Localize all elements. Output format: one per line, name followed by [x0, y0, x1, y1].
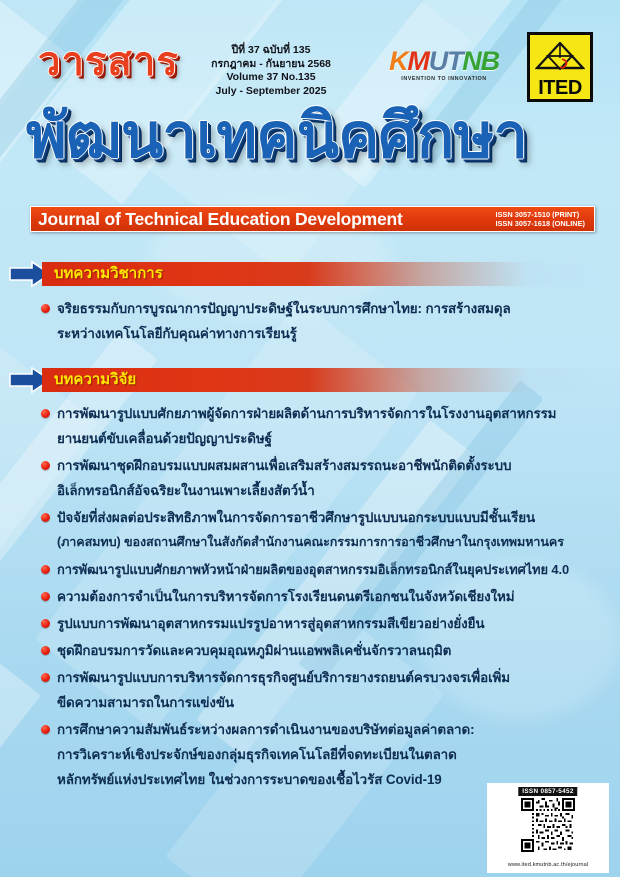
- bullet-icon: [41, 409, 50, 418]
- bullet-icon: [41, 565, 50, 574]
- list-item[interactable]: ปัจจัยที่ส่งผลต่อประสิทธิภาพในการจัดการอ…: [0, 505, 620, 555]
- list-item[interactable]: ความต้องการจำเป็นในการบริหารจัดการโรงเรี…: [0, 584, 620, 609]
- article-title-line: การศึกษาความสัมพันธ์ระหว่างผลการดำเนินงา…: [57, 717, 620, 742]
- article-list-research: การพัฒนารูปแบบศักยภาพผู้จัดการฝ่ายผลิตด้…: [0, 401, 620, 794]
- kmutnb-letters: KMUTNB: [369, 48, 519, 75]
- issue-line-en-period: July - September 2025: [186, 85, 356, 99]
- bullet-icon: [41, 725, 50, 734]
- page-title: พัฒนาเทคนิคศึกษา: [26, 104, 596, 169]
- article-title-line: ระหว่างเทคโนโลยีกับคุณค่าทางการเรียนรู้: [57, 321, 620, 346]
- article-title-line: อิเล็กทรอนิกส์อัจฉริยะในงานเพาะเลี้ยงสัต…: [57, 478, 620, 503]
- article-title-line: การพัฒนารูปแบบศักยภาพหัวหน้าฝ่ายผลิตของอ…: [57, 557, 620, 582]
- article-title-line: ปัจจัยที่ส่งผลต่อประสิทธิภาพในการจัดการอ…: [57, 505, 620, 530]
- list-item[interactable]: การศึกษาความสัมพันธ์ระหว่างผลการดำเนินงา…: [0, 717, 620, 792]
- ited-wordmark: ITED: [530, 78, 590, 98]
- issue-info: ปีที่ 37 ฉบับที่ 135 กรกฎาคม - กันยายน 2…: [186, 44, 356, 98]
- bullet-icon: [41, 619, 50, 628]
- thai-journal-word: วารสาร: [38, 42, 179, 82]
- list-item[interactable]: การพัฒนารูปแบบศักยภาพผู้จัดการฝ่ายผลิตด้…: [0, 401, 620, 451]
- qr-panel: ISSN 0857-5452: [487, 783, 609, 873]
- ited-logo: ITED: [527, 32, 593, 102]
- list-item[interactable]: การพัฒนาชุดฝึกอบรมแบบผสมผสานเพื่อเสริมสร…: [0, 453, 620, 503]
- kmutnb-letter-m: M: [407, 46, 428, 76]
- article-list-academic: จริยธรรมกับการบูรณาการปัญญาประดิษฐ์ในระบ…: [0, 296, 620, 348]
- qr-code-icon[interactable]: [521, 798, 575, 852]
- issn-print: ISSN 3057-1510 (PRINT): [495, 210, 585, 220]
- qr-issn-badge: ISSN 0857-5452: [518, 787, 577, 796]
- journal-cover: วารสาร ปีที่ 37 ฉบับที่ 135 กรกฎาคม - กั…: [0, 0, 620, 877]
- issn-online: ISSN 3057-1618 (ONLINE): [495, 219, 585, 229]
- article-title-line: ยานยนต์ขับเคลื่อนด้วยปัญญาประดิษฐ์: [57, 426, 620, 451]
- article-title-line: รูปแบบการพัฒนาอุตสาหกรรมแปรรูปอาหารสู่อุ…: [57, 611, 620, 636]
- kmutnb-letter-k: K: [389, 46, 407, 76]
- bullet-icon: [41, 673, 50, 682]
- english-title: Journal of Technical Education Developme…: [38, 209, 495, 230]
- article-title-line: (ภาคสมทบ) ของสถานศึกษาในสังกัดสำนักงานคณ…: [57, 530, 620, 555]
- article-title-line: การวิเคราะห์เชิงประจักษ์ของกลุ่มธุรกิจเท…: [57, 742, 620, 767]
- article-title-line: ความต้องการจำเป็นในการบริหารจัดการโรงเรี…: [57, 584, 620, 609]
- list-item[interactable]: รูปแบบการพัฒนาอุตสาหกรรมแปรรูปอาหารสู่อุ…: [0, 611, 620, 636]
- qr-url: www.ited.kmutnb.ac.th/ejournal: [487, 862, 609, 868]
- section-header-academic: บทความวิชาการ: [0, 262, 620, 286]
- english-title-bar: Journal of Technical Education Developme…: [30, 206, 595, 232]
- ited-crane-icon: [535, 42, 585, 72]
- list-item[interactable]: การพัฒนารูปแบบศักยภาพหัวหน้าฝ่ายผลิตของอ…: [0, 557, 620, 582]
- bullet-icon: [41, 513, 50, 522]
- issn-block: ISSN 3057-1510 (PRINT) ISSN 3057-1618 (O…: [495, 210, 587, 229]
- list-item[interactable]: จริยธรรมกับการบูรณาการปัญญาประดิษฐ์ในระบ…: [0, 296, 620, 346]
- list-item[interactable]: ชุดฝึกอบรมการวัดและควบคุมอุณหภูมิผ่านแอพ…: [0, 638, 620, 663]
- section-label-research: บทความวิจัย: [54, 370, 136, 390]
- section-label-academic: บทความวิชาการ: [54, 264, 163, 284]
- article-title-line: ขีดความสามารถในการแข่งขัน: [57, 690, 620, 715]
- issue-line-en-volume: Volume 37 No.135: [186, 71, 356, 85]
- bullet-icon: [41, 592, 50, 601]
- kmutnb-letter-ut: UT: [429, 46, 463, 76]
- issue-line-thai-volume: ปีที่ 37 ฉบับที่ 135: [186, 44, 356, 58]
- bullet-icon: [41, 461, 50, 470]
- article-title-line: การพัฒนารูปแบบศักยภาพผู้จัดการฝ่ายผลิตด้…: [57, 401, 620, 426]
- list-item[interactable]: การพัฒนารูปแบบการบริหารจัดการธุรกิจศูนย์…: [0, 665, 620, 715]
- bullet-icon: [41, 304, 50, 313]
- article-title-line: การพัฒนาชุดฝึกอบรมแบบผสมผสานเพื่อเสริมสร…: [57, 453, 620, 478]
- bullet-icon: [41, 646, 50, 655]
- kmutnb-letter-nb: NB: [462, 46, 499, 76]
- article-title-line: ชุดฝึกอบรมการวัดและควบคุมอุณหภูมิผ่านแอพ…: [57, 638, 620, 663]
- article-title-line: การพัฒนารูปแบบการบริหารจัดการธุรกิจศูนย์…: [57, 665, 620, 690]
- section-header-research: บทความวิจัย: [0, 368, 620, 392]
- article-title-line: จริยธรรมกับการบูรณาการปัญญาประดิษฐ์ในระบ…: [57, 296, 620, 321]
- kmutnb-logo: KMUTNB INVENTION TO INNOVATION: [369, 48, 519, 82]
- kmutnb-tagline: INVENTION TO INNOVATION: [369, 76, 519, 82]
- issue-line-thai-period: กรกฎาคม - กันยายน 2568: [186, 58, 356, 72]
